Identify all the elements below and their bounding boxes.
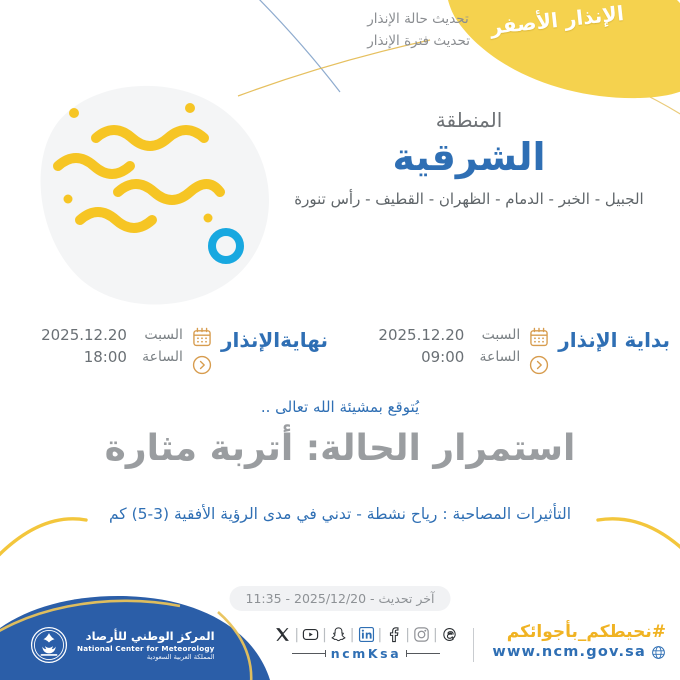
globe-icon [651, 645, 666, 660]
social-separator: | [294, 627, 299, 643]
saudi-emblem-icon [30, 626, 68, 664]
ncm-logo-country: المملكة العربية السعودية [77, 653, 215, 661]
alert-start-time-label: الساعة [474, 349, 520, 365]
social-separator: | [350, 627, 355, 643]
social-separator: | [433, 627, 438, 643]
update-notes: تحديث حالة الإنذار تحديث فترة الإنذار [367, 8, 470, 53]
instagram-icon[interactable] [413, 626, 430, 643]
alert-end-time-label: الساعة [137, 349, 183, 365]
update-note-2: تحديث فترة الإنذار [367, 30, 470, 52]
alert-end-icons [191, 322, 213, 376]
handle-rule-right [406, 653, 440, 654]
alert-start-date: 2025.12.20 [378, 326, 464, 344]
alert-end-time-row: الساعة 18:00 [41, 348, 183, 366]
youtube-icon[interactable] [302, 626, 319, 643]
social-handle-row: ncmKsa [271, 646, 461, 661]
website-row[interactable]: www.ncm.gov.sa [492, 644, 666, 660]
expectation-text: يُتوقع بمشيئة الله تعالى .. [0, 398, 680, 416]
alert-start-time-row: الساعة 09:00 [378, 348, 520, 366]
website-url[interactable]: www.ncm.gov.sa [492, 644, 646, 660]
headline-text: استمرار الحالة: أتربة مثارة [0, 428, 680, 469]
alert-times: بداية الإنذار السبت 2025.12.20 [0, 322, 680, 398]
calendar-icon [528, 326, 550, 348]
handle-rule-left [292, 653, 326, 654]
threads-icon[interactable] [441, 626, 458, 643]
alert-start-values: السبت 2025.12.20 الساعة 09:00 [378, 322, 520, 366]
social-separator: | [378, 627, 383, 643]
calendar-icon [191, 326, 213, 348]
chevron-right-circle-icon [528, 354, 550, 376]
social-handle: ncmKsa [331, 646, 402, 661]
region-name: الشرقية [284, 136, 654, 180]
ncm-logo: المركز الوطني للأرصاد National Center fo… [30, 626, 215, 664]
alert-end-day: السبت [137, 327, 183, 343]
alert-end-title: نهايةالإنذار [221, 322, 328, 352]
chevron-right-circle-icon [191, 354, 213, 376]
region-cities: الجبيل - الخبر - الدمام - الظهران - القط… [284, 188, 654, 211]
alert-end-date-row: السبت 2025.12.20 [41, 326, 183, 344]
infographic-canvas: الإنذار الأصفر تحديث حالة الإنذار تحديث … [0, 0, 680, 680]
social-icons: | | | | | [274, 626, 457, 643]
snapchat-icon[interactable] [330, 626, 347, 643]
social-separator: | [322, 627, 327, 643]
effects-text: التأثيرات المصاحبة : رياح نشطة - تدني في… [0, 500, 680, 529]
linkedin-icon[interactable] [358, 626, 375, 643]
last-update-badge: آخر تحديث - 2025/12/20 - 11:35 [230, 586, 451, 611]
alert-start-title: بداية الإنذار [558, 322, 670, 352]
alert-start-day: السبت [474, 327, 520, 343]
alert-end-date: 2025.12.20 [41, 326, 127, 344]
ncm-logo-arabic: المركز الوطني للأرصاد [77, 629, 215, 643]
x-icon[interactable] [274, 626, 291, 643]
campaign-hashtag: #نحيطكم_بأجوائكم [492, 622, 666, 642]
alert-start-date-row: السبت 2025.12.20 [378, 326, 520, 344]
social-separator: | [405, 627, 410, 643]
alert-end-time: 18:00 [84, 348, 127, 366]
footer-right: #نحيطكم_بأجوائكم www.ncm.gov.sa [492, 622, 666, 660]
facebook-icon[interactable] [385, 626, 402, 643]
alert-start-block: بداية الإنذار السبت 2025.12.20 [378, 322, 670, 376]
alert-start-icons [528, 322, 550, 376]
alert-badge-label: الإنذار الأصفر [451, 0, 662, 43]
alert-start-time: 09:00 [421, 348, 464, 366]
region-block: المنطقة الشرقية الجبيل - الخبر - الدمام … [284, 108, 654, 211]
alert-end-values: السبت 2025.12.20 الساعة 18:00 [41, 322, 183, 366]
ncm-logo-english: National Center for Meteorology [77, 644, 215, 653]
region-label: المنطقة [284, 108, 654, 132]
footer-divider [473, 628, 474, 662]
update-note-1: تحديث حالة الإنذار [367, 8, 470, 30]
ncm-logo-text: المركز الوطني للأرصاد National Center fo… [77, 629, 215, 661]
social-block: | | | | | [271, 626, 461, 661]
alert-end-block: نهايةالإنذار السبت 2025.12.20 [41, 322, 328, 376]
